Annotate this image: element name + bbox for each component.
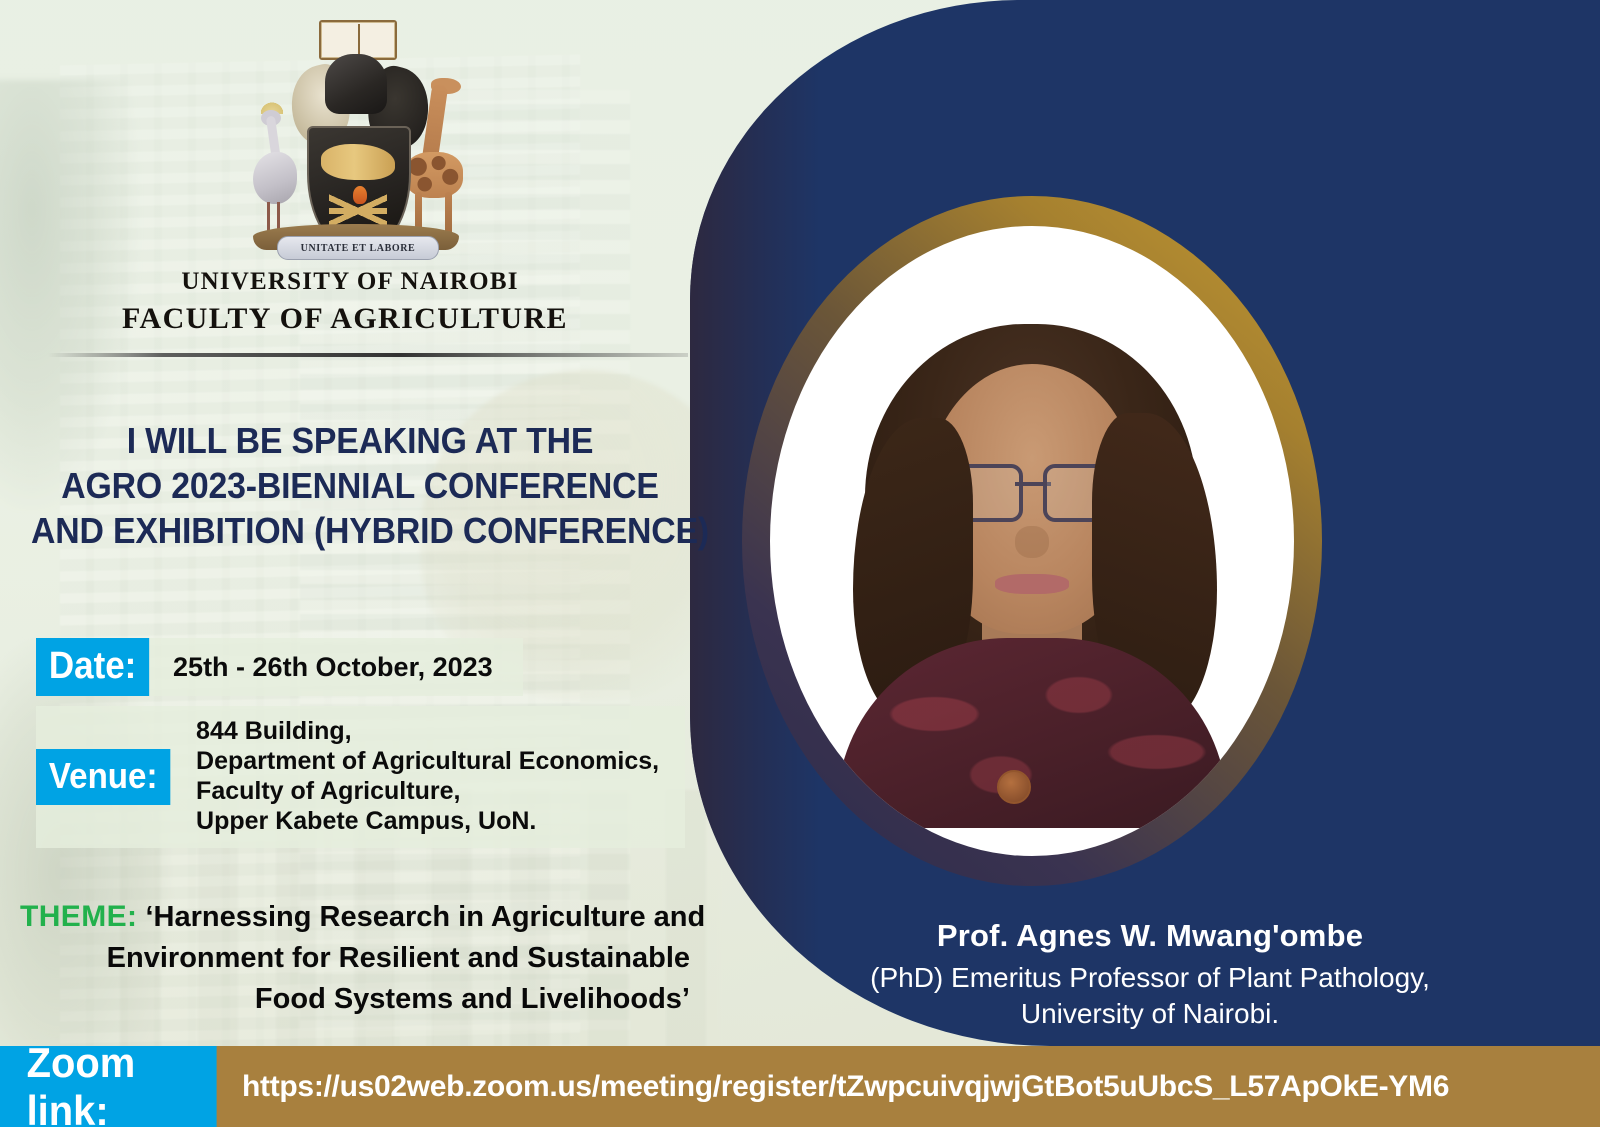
zoom-link-bar: Zoom link: https://us02web.zoom.us/meeti… [0,1046,1600,1127]
speaker-block: Prof. Agnes W. Mwang'ombe (PhD) Emeritus… [700,918,1600,1032]
headline: I WILL BE SPEAKING AT THE AGRO 2023-BIEN… [31,418,689,553]
headline-line-1: I WILL BE SPEAKING AT THE [31,418,689,463]
photo-jacket-button [997,770,1031,804]
university-name: UNIVERSITY OF NAIROBI [0,268,700,296]
speaker-title-line-2: University of Nairobi. [700,996,1600,1032]
conference-poster: UNITATE ET LABORE UNIVERSITY OF NAIROBI … [0,0,1600,1127]
speaker-photo [817,268,1247,828]
theme-label: THEME: [20,900,137,933]
header-divider-rule [48,353,688,357]
theme-line-1: THEME: ‘Harnessing Research in Agricultu… [20,896,690,938]
headline-line-3: AND EXHIBITION (HYBRID CONFERENCE) [31,508,689,553]
photo-nose [1015,526,1049,558]
headline-line-2: AGRO 2023-BIENNIAL CONFERENCE [31,463,689,508]
portrait-backdrop [770,226,1294,856]
zoom-link-label: Zoom link: [0,1046,217,1127]
zoom-registration-link[interactable]: https://us02web.zoom.us/meeting/register… [228,1070,1449,1104]
date-label-badge: Date: [36,638,149,696]
venue-label-badge: Venue: [36,749,170,805]
speaker-title-line-1: (PhD) Emeritus Professor of Plant Pathol… [700,960,1600,996]
crest-helmet [325,54,387,114]
theme-block: THEME: ‘Harnessing Research in Agricultu… [20,896,690,1020]
giraffe-body [405,152,463,198]
theme-line-2: Environment for Resilient and Sustainabl… [20,938,690,979]
venue-line-3: Faculty of Agriculture, [196,776,659,806]
crest-motto-banner: UNITATE ET LABORE [277,236,439,260]
crest-flame-icon [353,186,367,204]
speaker-title: (PhD) Emeritus Professor of Plant Pathol… [700,960,1600,1032]
university-crest-logo: UNITATE ET LABORE [243,18,471,266]
faculty-name: FACULTY OF AGRICULTURE [0,302,690,336]
venue-line-4: Upper Kabete Campus, UoN. [196,806,659,836]
theme-text-1: ‘Harnessing Research in Agriculture and [145,901,705,933]
venue-row: Venue: 844 Building, Department of Agric… [36,706,685,848]
date-row: Date: 25th - 26th October, 2023 [36,638,523,696]
crest-crowned-crane-icon [247,110,309,234]
theme-line-3: Food Systems and Livelihoods’ [20,979,690,1020]
venue-line-2: Department of Agricultural Economics, [196,746,659,776]
photo-mouth [995,574,1069,594]
venue-value: 844 Building, Department of Agricultural… [182,706,685,848]
crest-lion-icon [321,144,395,180]
venue-line-1: 844 Building, [196,716,659,746]
portrait-ring [742,196,1322,886]
crest-giraffe-icon [401,84,469,240]
crane-body [253,152,297,204]
giraffe-neck [422,83,449,162]
speaker-name: Prof. Agnes W. Mwang'ombe [700,918,1600,954]
date-value: 25th - 26th October, 2023 [159,638,523,696]
